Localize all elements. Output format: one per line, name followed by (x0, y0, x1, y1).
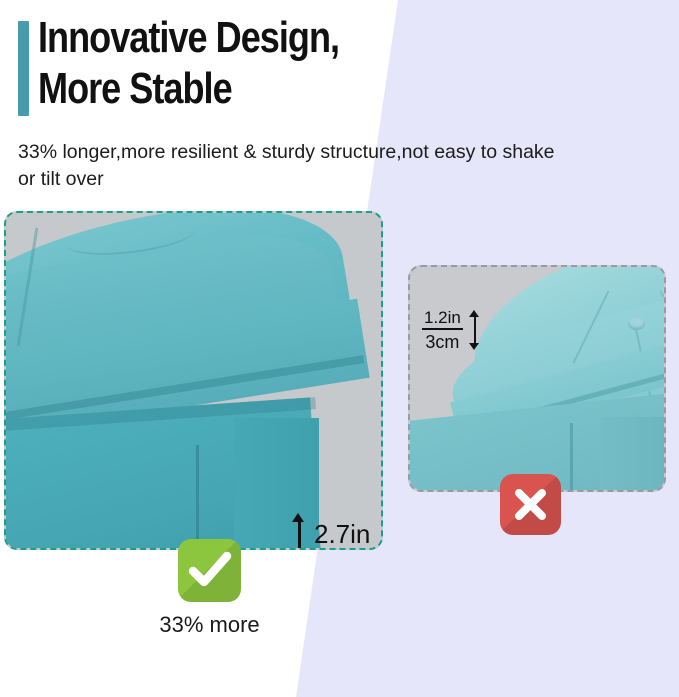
measurement-bad-imperial: 1.2in (422, 309, 463, 330)
measurement-bad: 1.2in 3cm (422, 309, 482, 352)
cross-icon (500, 474, 561, 535)
measure-arrow-icon (292, 513, 305, 550)
check-icon (178, 539, 241, 602)
measurement-good-values: 2.7in 7cm (312, 521, 372, 550)
page-title: Innovative Design, More Stable (38, 12, 598, 114)
measurement-good: 2.7in 7cm (292, 513, 372, 550)
measurement-bad-values: 1.2in 3cm (422, 309, 463, 352)
measure-arrow-icon (469, 310, 482, 350)
ottoman-bad-tuft-button-2 (628, 317, 645, 330)
title-line-2: More Stable (38, 63, 497, 114)
status-badge-bad (500, 474, 561, 535)
ottoman-good-body-seam (196, 445, 199, 550)
page-subtitle: 33% longer,more resilient & sturdy struc… (18, 139, 563, 193)
status-badge-good (178, 539, 241, 602)
comparison-panel-good: 2.7in 7cm (4, 211, 383, 550)
product-feature-graphic: Innovative Design, More Stable 33% longe… (0, 0, 679, 697)
title-line-1: Innovative Design, (38, 12, 497, 63)
ottoman-bad-body-seam (570, 423, 573, 492)
measurement-good-imperial: 2.7in (312, 521, 372, 550)
ottoman-bad-body-side (600, 417, 666, 492)
comparison-panel-bad: 1.2in 3cm (408, 265, 666, 492)
caption-good: 33% more (92, 612, 327, 638)
measurement-bad-metric: 3cm (425, 330, 459, 351)
title-accent-bar (18, 21, 29, 116)
